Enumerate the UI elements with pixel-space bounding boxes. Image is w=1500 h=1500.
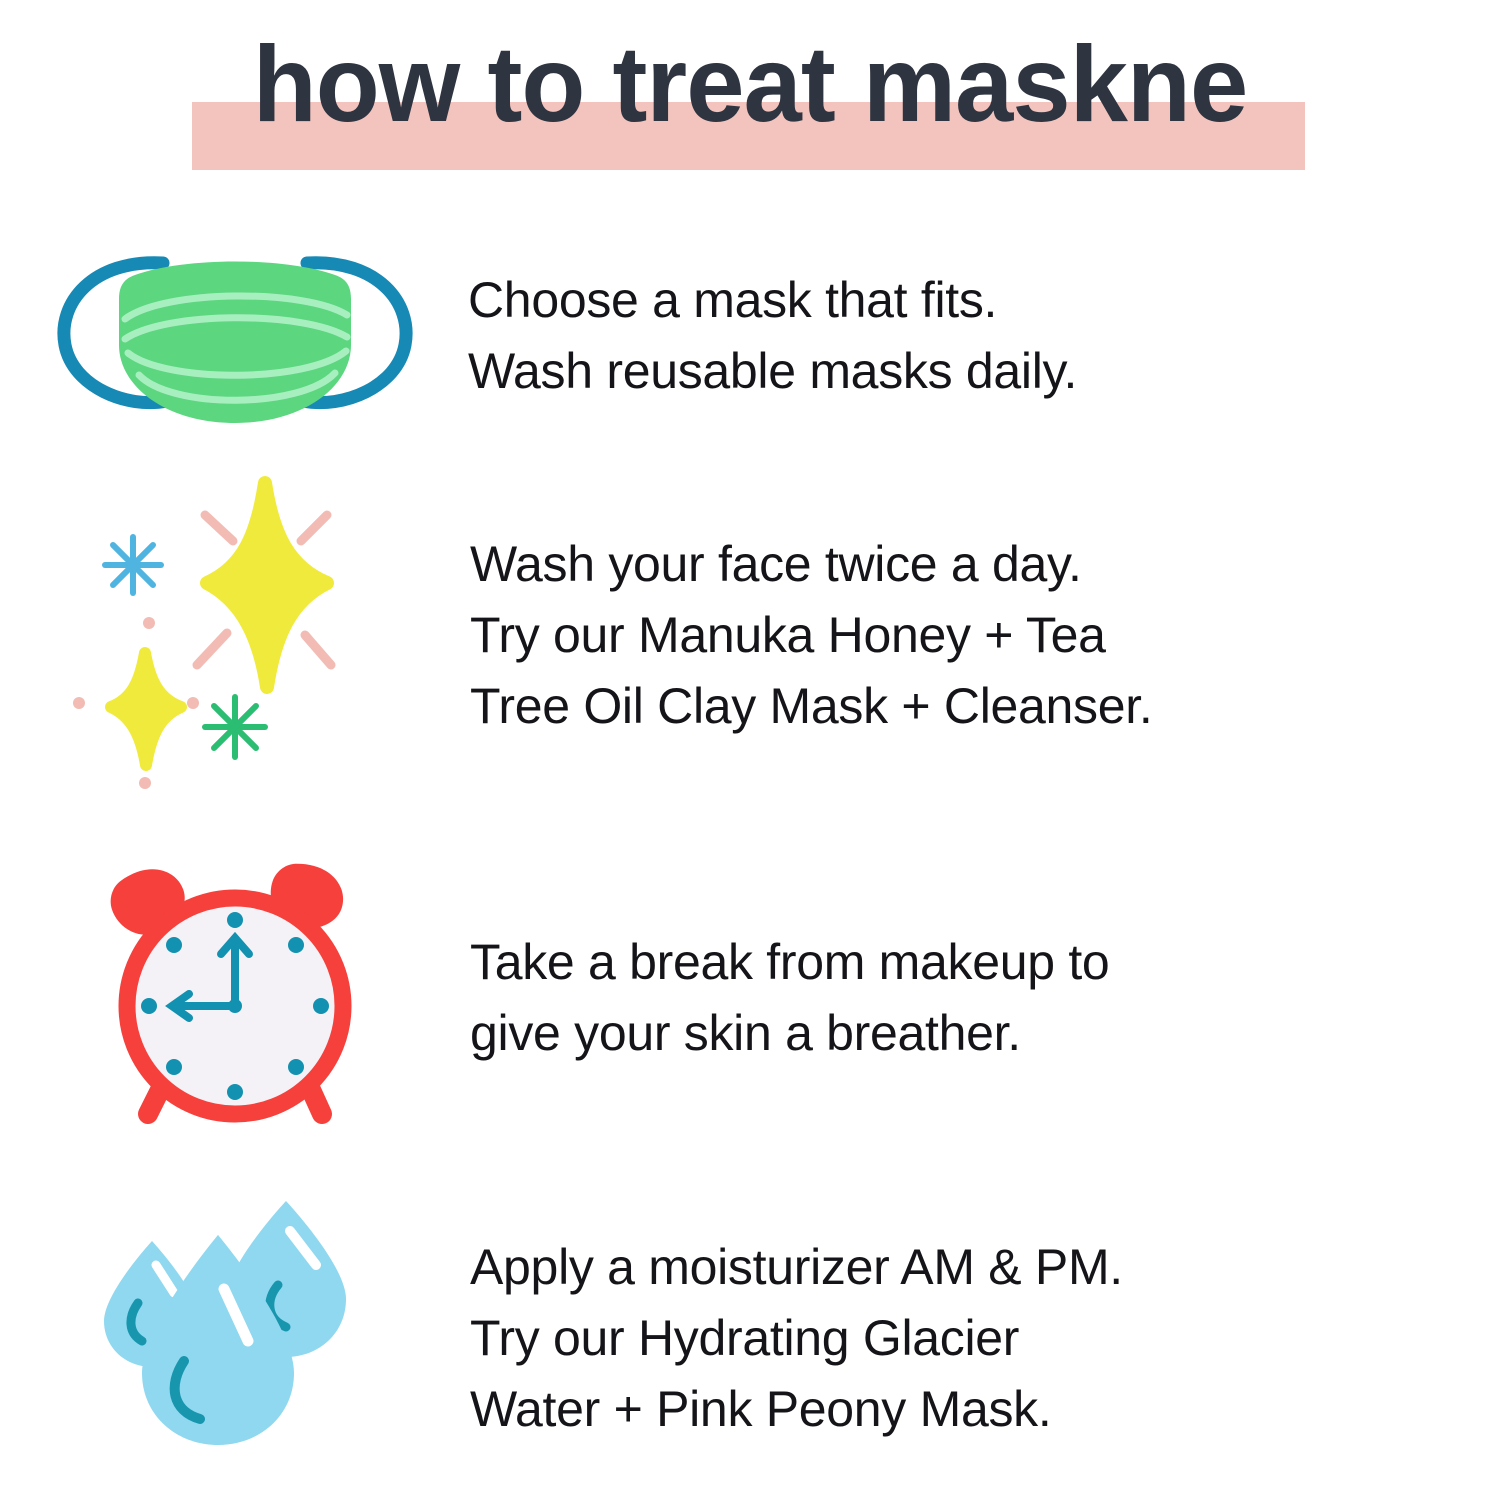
- tip-line: Try our Hydrating Glacier: [470, 1303, 1500, 1374]
- tip-line: Wash reusable masks daily.: [468, 336, 1498, 407]
- tip-row-4: Apply a moisturizer AM & PM. Try our Hyd…: [0, 1188, 1500, 1488]
- tip-text-2: Wash your face twice a day. Try our Manu…: [470, 529, 1500, 742]
- tip-row-3: Take a break from makeup to give your sk…: [0, 848, 1500, 1148]
- tip-line: Take a break from makeup to: [470, 927, 1500, 998]
- tip-line: give your skin a breather.: [470, 998, 1500, 1069]
- tip-text-1: Choose a mask that fits. Wash reusable m…: [468, 265, 1498, 407]
- alarm-clock-icon: [0, 858, 470, 1138]
- tip-line: Apply a moisturizer AM & PM.: [470, 1232, 1500, 1303]
- tip-row-1: Choose a mask that fits. Wash reusable m…: [0, 236, 1500, 436]
- tip-line: Wash your face twice a day.: [470, 529, 1500, 600]
- infographic-poster: how to treat maskne Choose a mask that f…: [0, 0, 1500, 1500]
- sparkles-icon: [0, 475, 470, 795]
- page-title: how to treat maskne: [0, 18, 1500, 168]
- title-text: how to treat maskne: [23, 18, 1478, 150]
- tip-text-4: Apply a moisturizer AM & PM. Try our Hyd…: [470, 1232, 1500, 1445]
- water-droplets-icon: [0, 1193, 470, 1483]
- tip-text-3: Take a break from makeup to give your sk…: [470, 927, 1500, 1069]
- tip-row-2: Wash your face twice a day. Try our Manu…: [0, 470, 1500, 800]
- face-mask-icon: [0, 241, 470, 431]
- tip-line: Choose a mask that fits.: [468, 265, 1498, 336]
- tip-line: Try our Manuka Honey + Tea: [470, 600, 1500, 671]
- tip-line: Tree Oil Clay Mask + Cleanser.: [470, 671, 1500, 742]
- tip-line: Water + Pink Peony Mask.: [470, 1374, 1500, 1445]
